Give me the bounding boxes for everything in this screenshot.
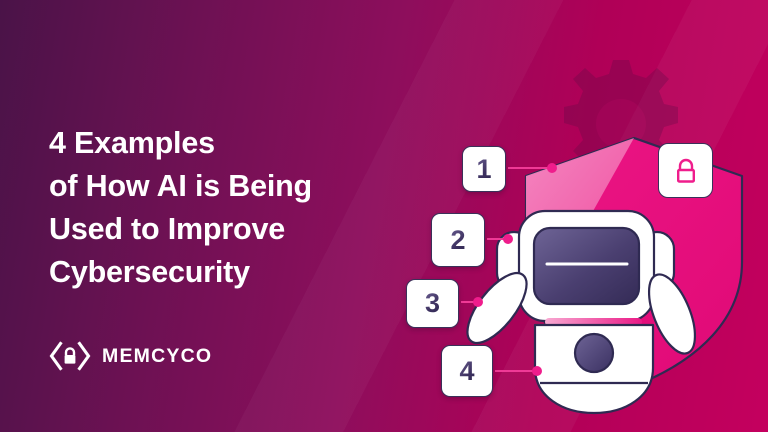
number-badge-1-label: 1: [476, 156, 491, 183]
headline-line-2: of How AI is Being: [49, 165, 409, 208]
number-badge-4-label: 4: [459, 358, 474, 385]
number-badge-3: 3: [406, 279, 459, 328]
number-badge-2-label: 2: [450, 227, 465, 254]
number-badge-2: 2: [431, 213, 485, 267]
padlock-icon: [672, 156, 700, 186]
headline-line-3: Used to Improve: [49, 208, 409, 251]
robot-icon: [457, 211, 704, 413]
headline-line-1: 4 Examples: [49, 122, 409, 165]
lock-badge: [658, 143, 713, 198]
promo-banner: 4 Examples of How AI is Being Used to Im…: [0, 0, 768, 432]
number-badge-3-label: 3: [425, 290, 440, 317]
connector-dot-3: [473, 297, 483, 307]
memcyco-logo[interactable]: MEMCYCO: [49, 340, 212, 372]
headline-line-4: Cybersecurity: [49, 251, 409, 294]
lock-in-angle-brackets-icon: [49, 340, 91, 372]
number-badge-1: 1: [462, 146, 506, 192]
connector-dot-2: [503, 234, 513, 244]
connector-dot-4: [532, 366, 542, 376]
number-badge-4: 4: [441, 345, 493, 397]
page-title: 4 Examples of How AI is Being Used to Im…: [49, 122, 409, 294]
memcyco-wordmark: MEMCYCO: [102, 345, 212, 368]
connector-dot-1: [547, 163, 557, 173]
